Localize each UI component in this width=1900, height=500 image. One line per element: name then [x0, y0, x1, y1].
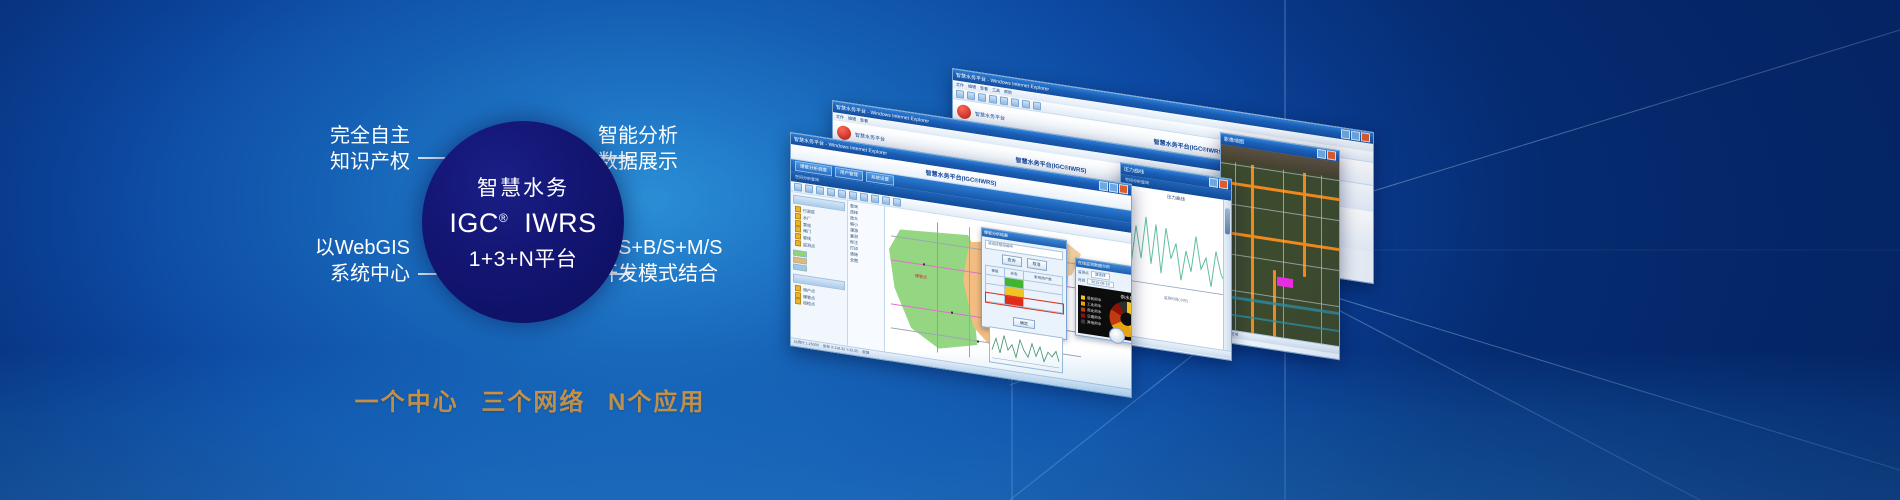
donut-swatch-0: [1081, 295, 1085, 300]
menu-tools[interactable]: 工具: [992, 87, 1000, 94]
minimize-icon[interactable]: [1209, 178, 1218, 188]
tagline: 一个中心 三个网络 N个应用: [250, 382, 810, 417]
menu-file[interactable]: 文件: [836, 114, 844, 121]
pan-tool-icon[interactable]: [838, 189, 846, 198]
line-chart-svg: [1121, 193, 1231, 306]
burst-result-table: 等级 状态 影响用户数: [985, 265, 1063, 314]
maximize-icon[interactable]: [1351, 131, 1360, 141]
circle-platform: 1+3+N平台: [469, 243, 578, 273]
menu-file[interactable]: 文件: [956, 82, 964, 89]
fullextent-tool-icon[interactable]: [893, 198, 901, 207]
toolbar-icon-6[interactable]: [1011, 98, 1019, 107]
close-icon[interactable]: [1361, 132, 1370, 142]
close-icon[interactable]: [1327, 150, 1336, 160]
maximize-icon[interactable]: [1109, 182, 1118, 192]
road-minor-5: [1235, 146, 1236, 330]
chart-scrollbar-thumb[interactable]: [1225, 208, 1230, 235]
select-tool-icon[interactable]: [805, 184, 813, 193]
burst-cancel-button[interactable]: 取消: [1027, 258, 1047, 271]
donut-legend: 居民用水 工业用水 商业用水 公建用水 其他用水: [1081, 295, 1101, 327]
center-circle: 智慧水务 IGC® IWRS 1+3+N平台: [422, 121, 624, 323]
circle-cn-title: 智慧水务: [477, 172, 569, 202]
selected-area-highlight: [1277, 277, 1293, 288]
monitor-point-label: 监测点: [1078, 270, 1089, 277]
window-chart[interactable]: 压力曲线 空间分析查询 压力曲线 监测时间(小时) 就绪: [1120, 162, 1232, 361]
status-ready: 就绪: [862, 350, 869, 356]
toolbar-icon-7[interactable]: [1022, 100, 1030, 109]
label-top-left-line1: 完全自主: [250, 123, 410, 149]
burst-row-3-status: [1005, 295, 1024, 307]
burst-query-button[interactable]: 查询: [1002, 254, 1022, 267]
toolbar-icon-4[interactable]: [989, 95, 997, 104]
concept-diagram: 完全自主 知识产权 以WebGIS 系统中心 智能分析 数据展示 C/S+B/S…: [250, 95, 810, 395]
menu-view[interactable]: 查看: [860, 117, 868, 124]
satellite-map[interactable]: [1221, 144, 1339, 346]
donut-swatch-1: [1081, 301, 1085, 306]
tool-panel[interactable]: 查询 选择 放大 缩小 漫游 量测 标注 打印 清除 全图: [848, 201, 885, 352]
minimize-icon[interactable]: [1099, 181, 1108, 191]
registered-mark-icon: ®: [499, 211, 508, 225]
line-chart-panel: 压力曲线 监测时间(小时): [1121, 184, 1231, 351]
close-icon[interactable]: [1219, 179, 1228, 189]
label-top-right-line1: 智能分析: [598, 123, 678, 149]
label-top-left-line2: 知识产权: [250, 149, 410, 175]
label-bottom-left: 以WebGIS 系统中心: [250, 235, 410, 288]
road-minor-7: [1321, 159, 1322, 343]
node-1: [923, 263, 925, 265]
close-icon[interactable]: [1119, 184, 1128, 194]
screenshot-stack: 智慧水务平台 - Windows Internet Explorer 文件 编辑…: [790, 40, 1490, 370]
zoom-out-tool-icon[interactable]: [827, 188, 835, 197]
print-tool-icon[interactable]: [871, 194, 879, 203]
toolbar-icon-5[interactable]: [1000, 96, 1008, 105]
toolbar-icon-2[interactable]: [967, 91, 975, 100]
clear-tool-icon[interactable]: [882, 196, 890, 205]
minimize-icon[interactable]: [1317, 149, 1326, 159]
query-tool-icon[interactable]: [794, 183, 802, 192]
label-bottom-left-line1: 以WebGIS: [250, 235, 410, 261]
donut-swatch-3: [1081, 313, 1085, 318]
legend-swatch-blue: [793, 263, 807, 271]
toolbar-icon-8[interactable]: [1033, 101, 1041, 110]
menu-edit[interactable]: 编辑: [968, 83, 976, 90]
donut-legend-label-4: 其他用水: [1087, 320, 1101, 327]
node-5: [977, 340, 979, 342]
burst-row-3-level: [986, 292, 1005, 304]
menu-view[interactable]: 查看: [980, 85, 988, 92]
map-legend: [793, 249, 845, 277]
label-bottom-left-line2: 系统中心: [250, 261, 410, 287]
burst-ok-button[interactable]: 确定: [1013, 317, 1035, 329]
tagline-part1: 一个中心: [355, 389, 459, 416]
monitor-date-label: 时间: [1078, 277, 1085, 283]
dialog-burst-analysis[interactable]: 爆管分析结果 请选择管段编号 查询 取消 等级 状态: [981, 227, 1067, 340]
tagline-part2: 三个网络: [481, 389, 585, 416]
node-2: [951, 311, 953, 313]
donut-swatch-2: [1081, 307, 1085, 312]
layer-panel[interactable]: 行政区 水厂 泵站 阀门 管线 监测点 用户点: [791, 192, 848, 346]
banner-stage: 完全自主 知识产权 以WebGIS 系统中心 智能分析 数据展示 C/S+B/S…: [0, 0, 1900, 500]
measure-tool-icon[interactable]: [849, 191, 857, 200]
window-satmap[interactable]: 影像地图 选中区域: [1220, 132, 1340, 360]
donut-swatch-4: [1081, 319, 1085, 324]
circle-en-iwrs: IWRS: [524, 208, 597, 238]
circle-en-title: IGC® IWRS: [449, 208, 596, 239]
label-top-right: 智能分析 数据展示: [598, 123, 678, 176]
circle-en-igc: IGC: [449, 208, 499, 238]
menu-edit[interactable]: 编辑: [848, 115, 856, 122]
tagline-part3: N个应用: [608, 389, 705, 416]
toolbar-icon-3[interactable]: [978, 93, 986, 102]
window-back-brand: 智慧水务平台: [975, 110, 1005, 122]
label-top-left: 完全自主 知识产权: [250, 123, 410, 176]
road-major-3: [1251, 149, 1254, 333]
window-middle-brand: 智慧水务平台: [855, 131, 885, 143]
layer-tree[interactable]: 行政区 水厂 泵站 阀门 管线 监测点: [793, 205, 845, 254]
zoom-in-tool-icon[interactable]: [816, 186, 824, 195]
toolbar-icon-1[interactable]: [956, 90, 964, 99]
chart-scrollbar[interactable]: [1223, 200, 1231, 351]
label-tool-icon[interactable]: [860, 193, 868, 202]
road-base-3: [969, 227, 970, 357]
menu-help[interactable]: 帮助: [1004, 89, 1012, 96]
company-logo-icon: [957, 104, 971, 120]
minimize-icon[interactable]: [1341, 129, 1350, 139]
dialog-burst-content[interactable]: 请选择管段编号 查询 取消 等级 状态 影响用户数: [982, 236, 1066, 339]
road-minor-6: [1283, 154, 1284, 338]
